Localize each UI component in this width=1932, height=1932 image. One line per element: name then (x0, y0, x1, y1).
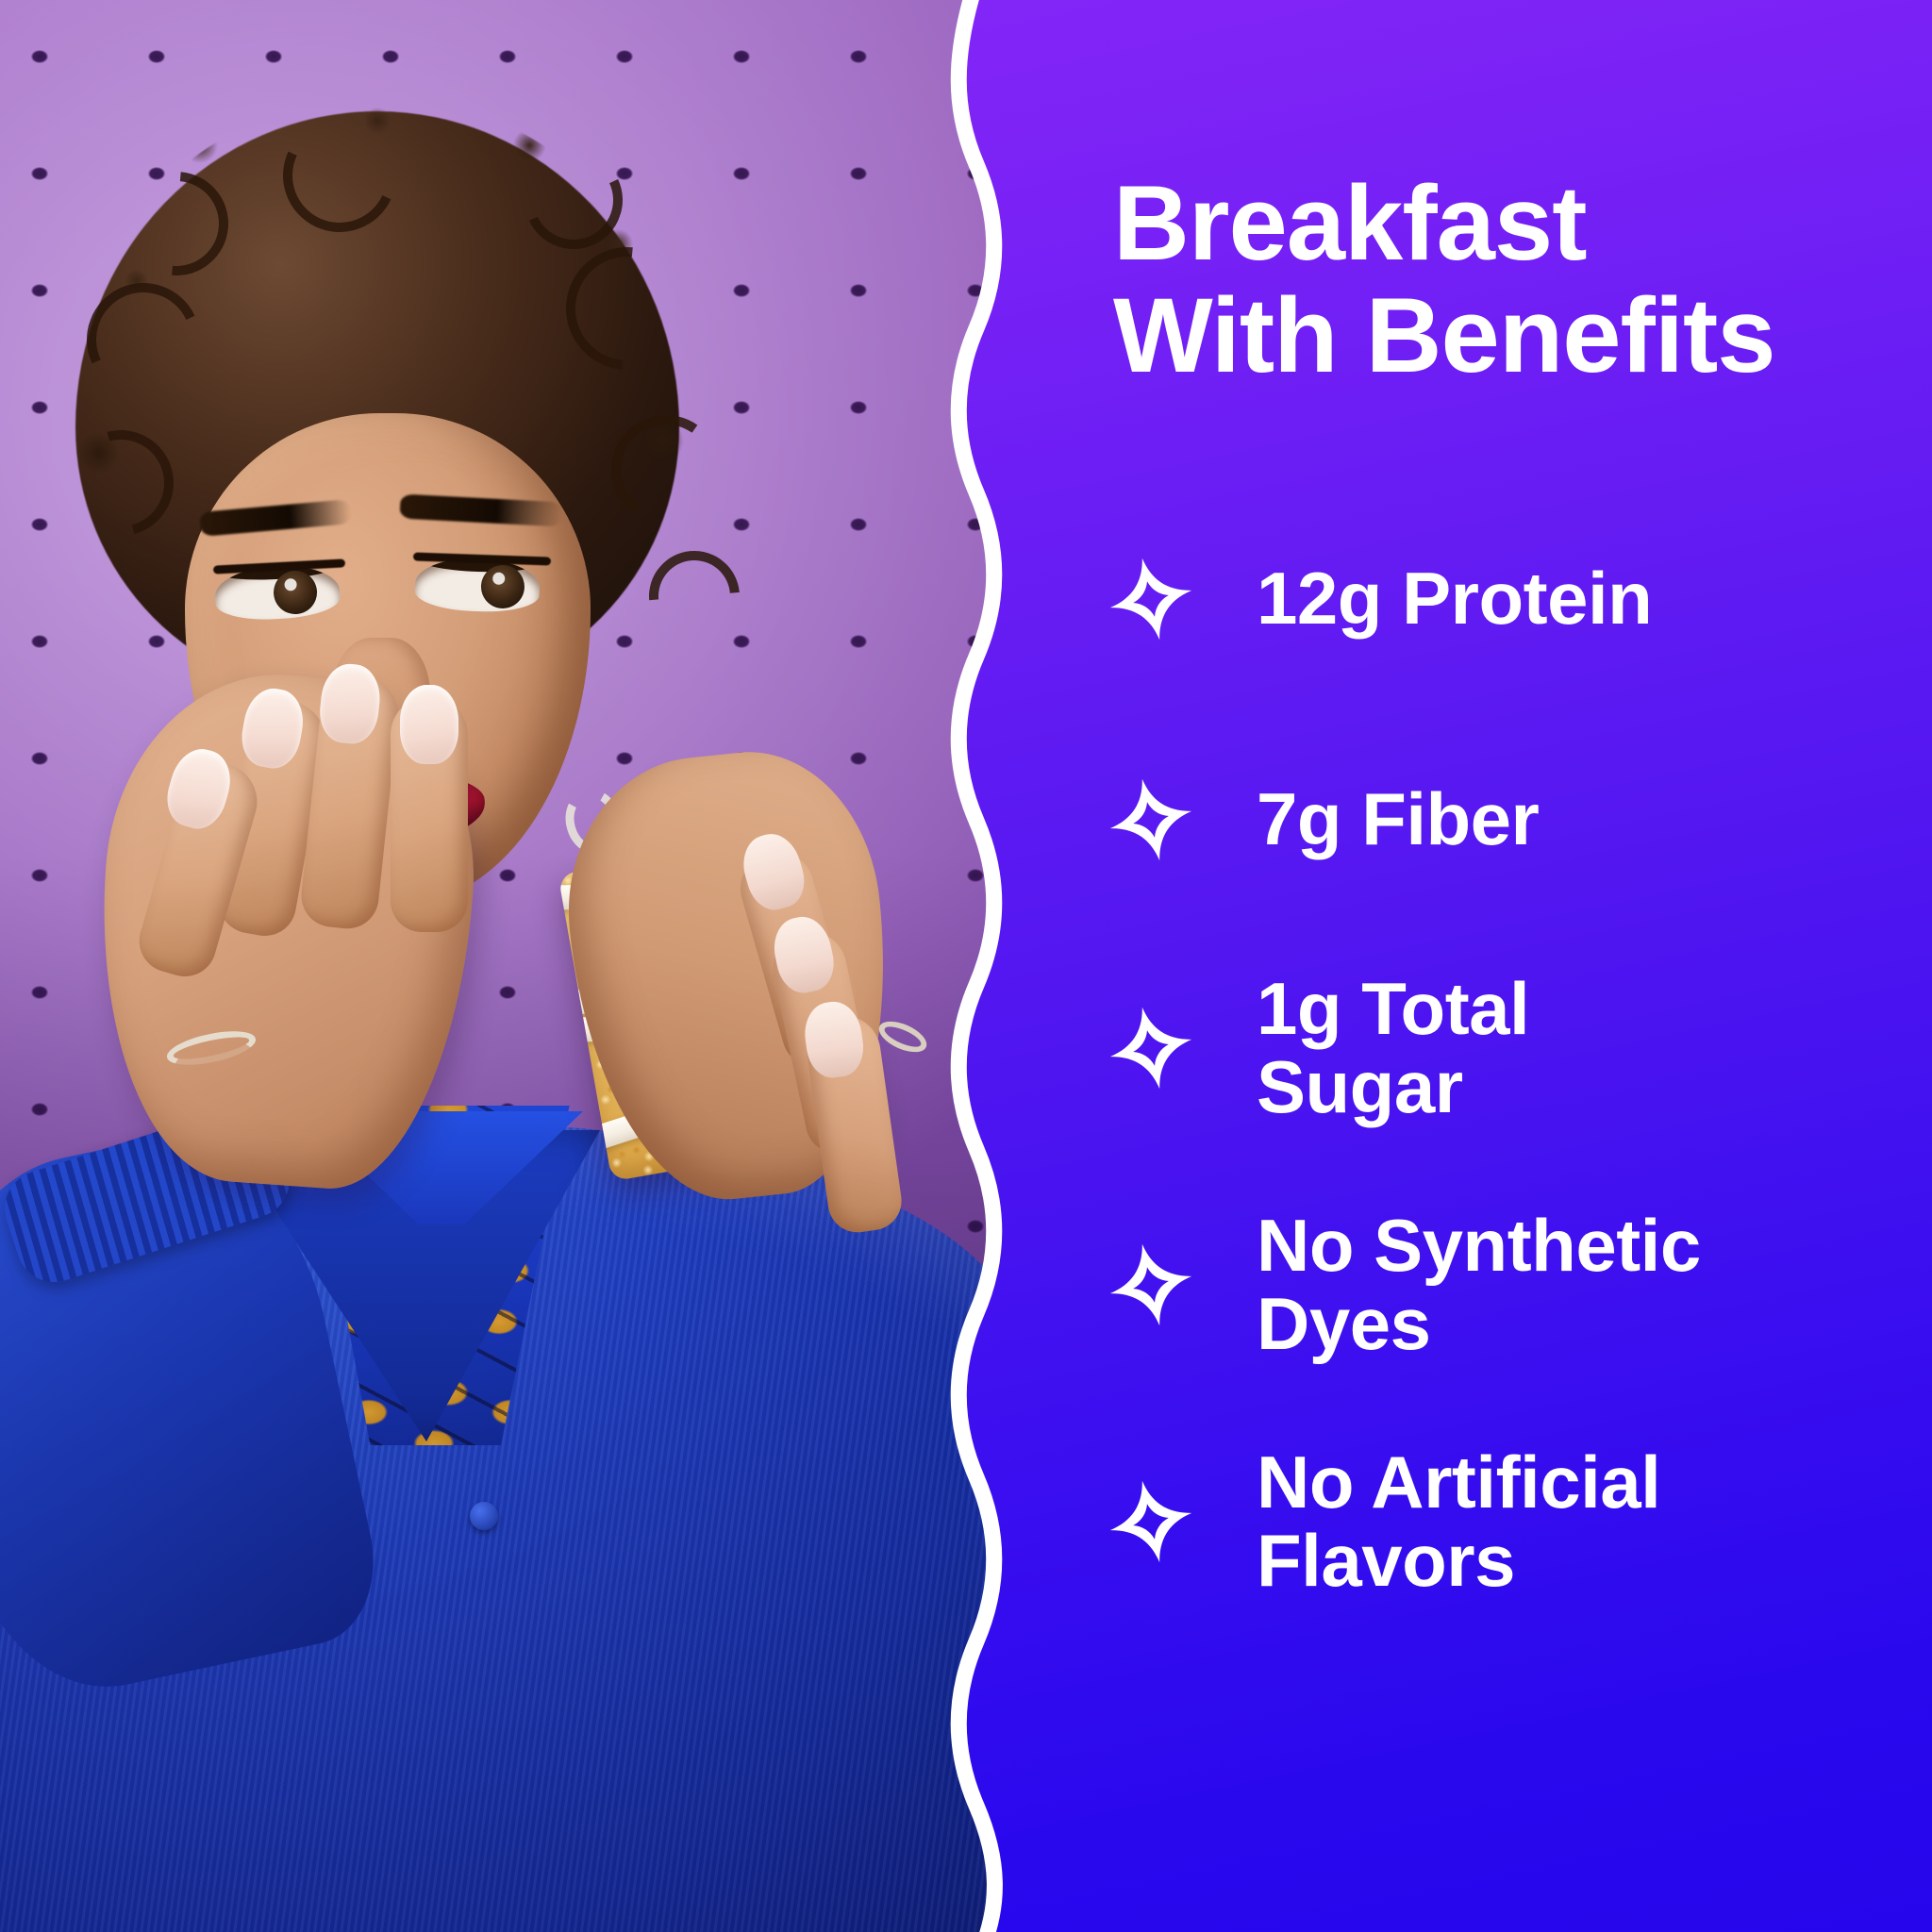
list-item: 7g Fiber (1094, 749, 1932, 891)
eye-right (414, 557, 541, 614)
headline-line-1: Breakfast (1113, 164, 1587, 282)
sparkle-star-icon (1094, 991, 1207, 1105)
benefit-label: 1g Total Sugar (1257, 970, 1672, 1127)
benefit-label: 7g Fiber (1257, 780, 1539, 858)
benefit-label: No Artificial Flavors (1257, 1443, 1766, 1601)
sparkle-star-icon (1094, 1465, 1207, 1578)
sparkle-star-icon (1094, 763, 1207, 876)
ad-creative: Breakfast With Benefits 12g Protein 7g (0, 0, 1932, 1932)
sparkle-star-icon (1094, 1228, 1207, 1341)
benefit-label: 12g Protein (1257, 559, 1652, 638)
list-item: No Artificial Flavors (1094, 1443, 1932, 1601)
benefits-panel: Breakfast With Benefits 12g Protein 7g (1094, 0, 1932, 1932)
sparkle-star-icon (1094, 542, 1207, 656)
list-item: 12g Protein (1094, 528, 1932, 670)
headline-line-2: With Benefits (1113, 276, 1775, 394)
hero-photo (0, 0, 989, 1932)
list-item: 1g Total Sugar (1094, 970, 1932, 1127)
shirt-button (470, 1502, 498, 1530)
benefits-list: 12g Protein 7g Fiber 1g Total Sugar (1094, 528, 1932, 1601)
benefit-label: No Synthetic Dyes (1257, 1207, 1785, 1364)
list-item: No Synthetic Dyes (1094, 1207, 1932, 1364)
page-title: Breakfast With Benefits (1113, 168, 1932, 391)
fingernail (400, 685, 458, 764)
